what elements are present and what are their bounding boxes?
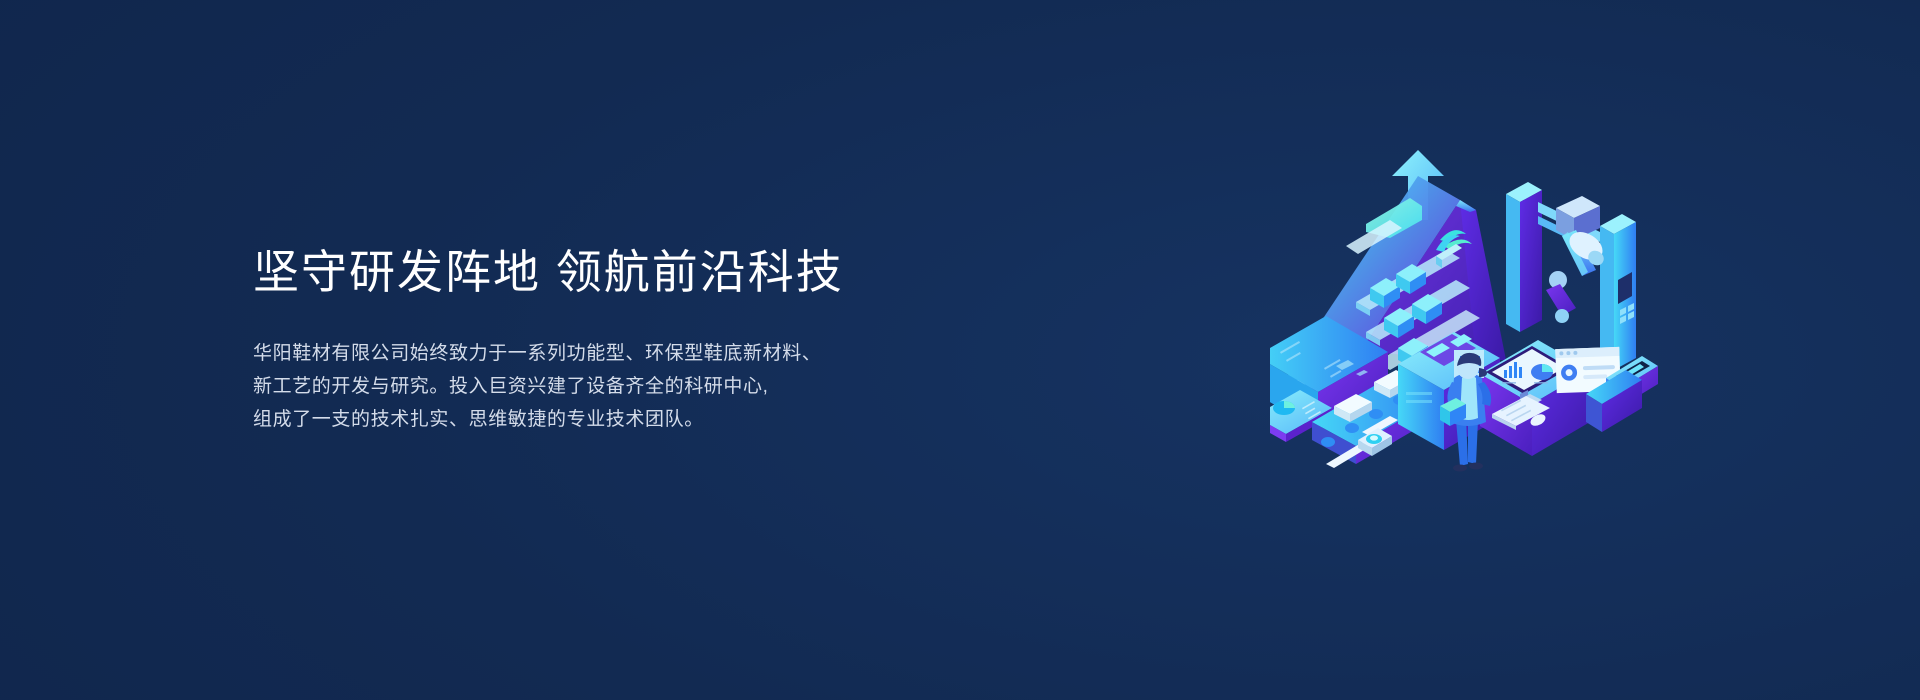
description-line-2: 新工艺的开发与研究。投入巨资兴建了设备齐全的科研中心, [253,370,1013,403]
page-title: 坚守研发阵地 领航前沿科技 [253,243,1013,301]
banner-copy: 坚守研发阵地 领航前沿科技 华阳鞋材有限公司始终致力于一系列功能型、环保型鞋底新… [253,243,1013,436]
robotic-arm-gantry [1506,182,1636,370]
hero-banner: 坚守研发阵地 领航前沿科技 华阳鞋材有限公司始终致力于一系列功能型、环保型鞋底新… [0,0,1920,700]
isometric-rd-factory-illustration [1270,120,1690,480]
description-line-3: 组成了一支的技术扎实、思维敏捷的专业技术团队。 [253,403,1013,436]
pie-chart-widget [1531,364,1553,380]
pie-chart-widget [1273,401,1295,415]
banner-description: 华阳鞋材有限公司始终致力于一系列功能型、环保型鞋底新材料、 新工艺的开发与研究。… [253,337,1013,436]
description-line-1: 华阳鞋材有限公司始终致力于一系列功能型、环保型鞋底新材料、 [253,337,1013,370]
